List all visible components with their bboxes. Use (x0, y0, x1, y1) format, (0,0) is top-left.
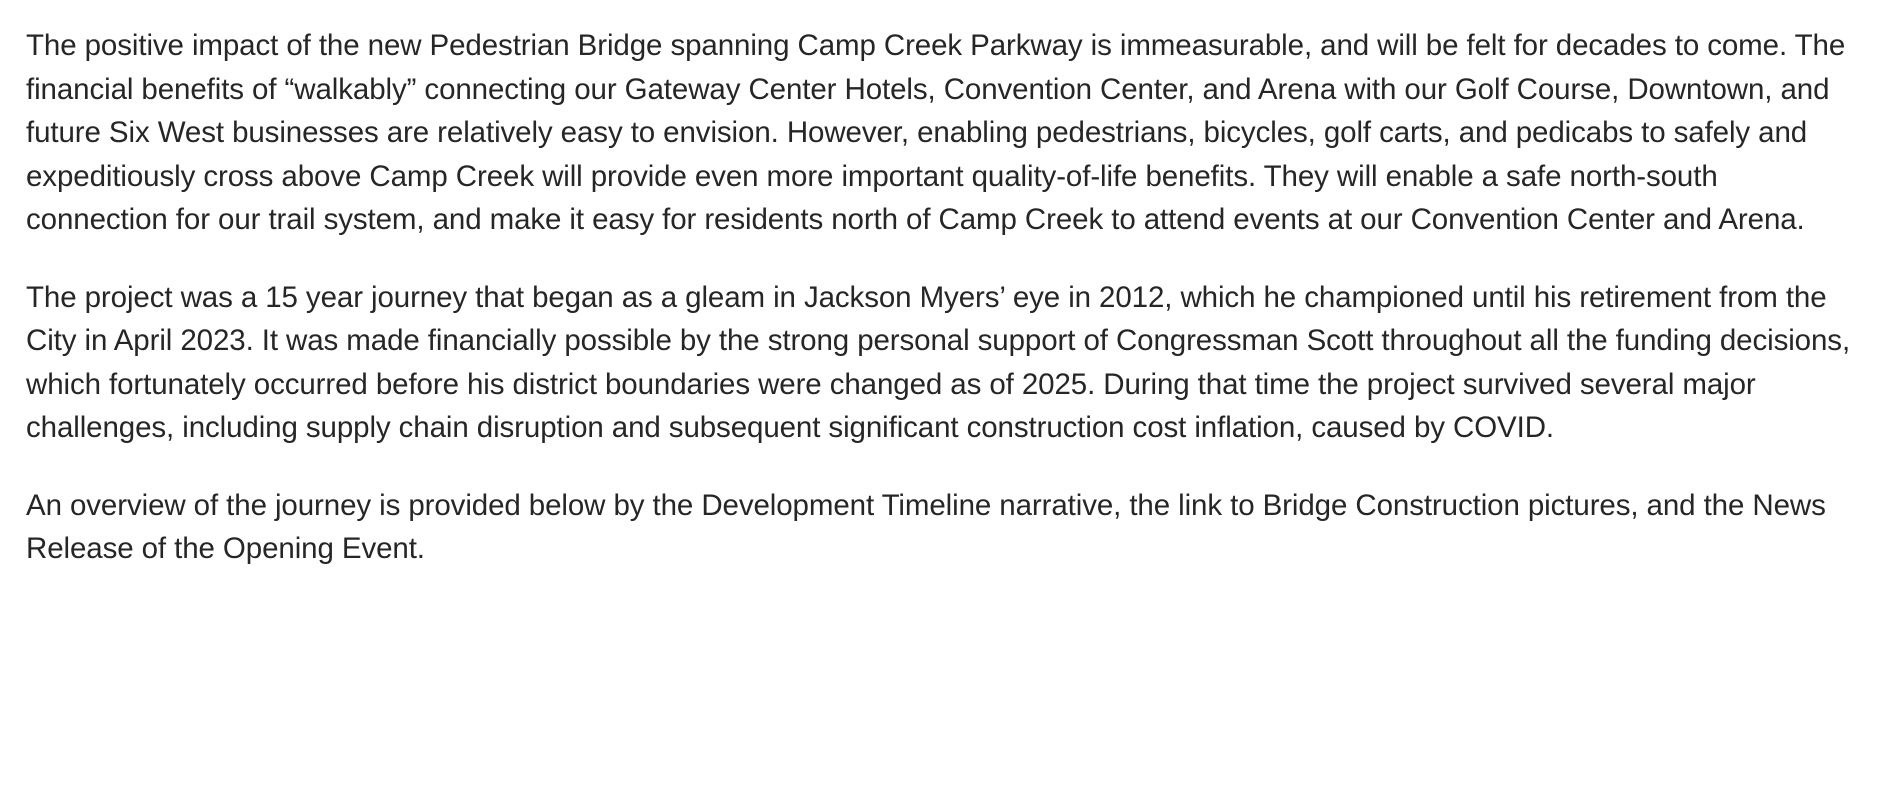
paragraph-overview: An overview of the journey is provided b… (26, 484, 1860, 571)
document-body: The positive impact of the new Pedestria… (26, 24, 1860, 571)
paragraph-impact: The positive impact of the new Pedestria… (26, 24, 1860, 242)
paragraph-history: The project was a 15 year journey that b… (26, 276, 1860, 450)
document-page: The positive impact of the new Pedestria… (0, 0, 1884, 808)
